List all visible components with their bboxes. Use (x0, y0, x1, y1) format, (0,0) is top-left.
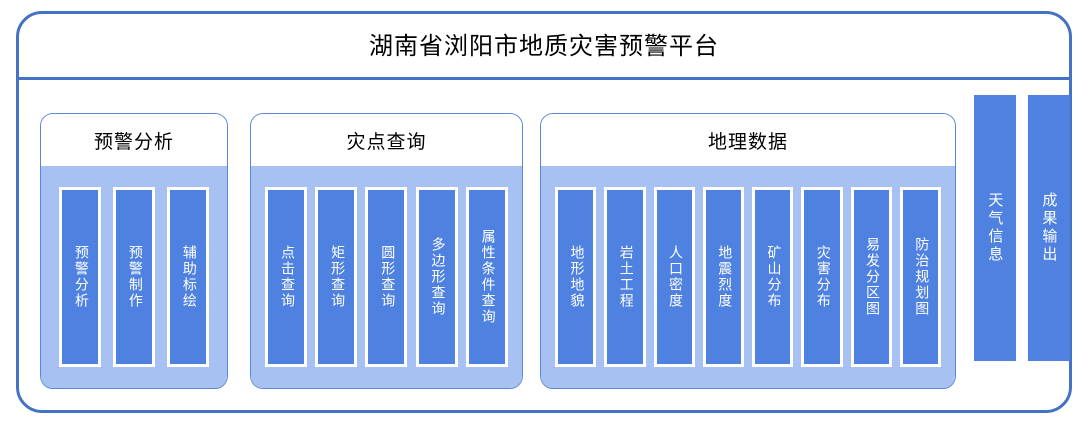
module-body-geographic-data: 地形地貌 岩土工程 人口密度 地震烈度 矿山分布 灾害分布 易发 (541, 166, 955, 388)
module-item-label: 地震烈度 (716, 245, 732, 309)
module-item-label: 易发分区图 (863, 237, 879, 317)
module-item-disaster-point-query-4[interactable]: 属性条件查询 (466, 187, 508, 367)
module-item-label: 矩形查询 (328, 245, 344, 309)
module-item-disaster-point-query-2[interactable]: 圆形查询 (365, 187, 407, 367)
module-item-geographic-data-7[interactable]: 防治规划图 (900, 187, 941, 367)
module-header-geographic-data: 地理数据 (541, 114, 955, 166)
module-item-geographic-data-0[interactable]: 地形地貌 (555, 187, 596, 367)
module-item-geographic-data-1[interactable]: 岩土工程 (604, 187, 645, 367)
modules-row: 预警分析 预警分析 预警制作 辅助标绘 灾点查询 点击查询 (19, 80, 1069, 410)
platform-container: 湖南省浏阳市地质灾害预警平台 预警分析 预警分析 预警制作 辅助标绘 (16, 11, 1072, 413)
module-item-label: 岩土工程 (617, 245, 633, 309)
module-header-disaster-point-query: 灾点查询 (251, 114, 522, 166)
module-item-warning-analysis-1[interactable]: 预警制作 (113, 187, 155, 367)
module-header-label: 地理数据 (708, 127, 788, 154)
module-item-label: 人口密度 (666, 245, 682, 309)
module-item-disaster-point-query-3[interactable]: 多边形查询 (416, 187, 458, 367)
module-body-disaster-point-query: 点击查询 矩形查询 圆形查询 多边形查询 属性条件查询 (251, 166, 522, 388)
standalone-bar-result-output[interactable]: 成果输出 (1028, 95, 1070, 361)
module-group-disaster-point-query[interactable]: 灾点查询 点击查询 矩形查询 圆形查询 多边形查询 属性条件查询 (250, 113, 523, 389)
module-item-label: 多边形查询 (429, 237, 445, 317)
module-item-label: 灾害分布 (814, 245, 830, 309)
module-item-label: 辅助标绘 (180, 245, 196, 309)
module-body-warning-analysis: 预警分析 预警制作 辅助标绘 (41, 166, 227, 388)
platform-titlebar: 湖南省浏阳市地质灾害预警平台 (19, 14, 1069, 80)
module-group-geographic-data[interactable]: 地理数据 地形地貌 岩土工程 人口密度 地震烈度 矿山分布 (540, 113, 956, 389)
page-title: 湖南省浏阳市地质灾害预警平台 (369, 34, 719, 58)
module-item-label: 防治规划图 (913, 237, 929, 317)
module-item-disaster-point-query-1[interactable]: 矩形查询 (315, 187, 357, 367)
module-item-label: 预警制作 (126, 245, 142, 309)
module-item-label: 点击查询 (278, 245, 294, 309)
module-item-geographic-data-3[interactable]: 地震烈度 (703, 187, 744, 367)
module-item-warning-analysis-2[interactable]: 辅助标绘 (167, 187, 209, 367)
module-item-label: 属性条件查询 (479, 229, 495, 325)
module-item-warning-analysis-0[interactable]: 预警分析 (59, 187, 101, 367)
module-item-geographic-data-4[interactable]: 矿山分布 (752, 187, 793, 367)
module-header-warning-analysis: 预警分析 (41, 114, 227, 166)
module-item-label: 地形地貌 (568, 245, 584, 309)
standalone-bar-weather-info[interactable]: 天气信息 (974, 95, 1016, 361)
standalone-bar-label: 天气信息 (987, 192, 1004, 264)
module-item-geographic-data-2[interactable]: 人口密度 (654, 187, 695, 367)
module-item-geographic-data-5[interactable]: 灾害分布 (801, 187, 842, 367)
module-item-label: 圆形查询 (379, 245, 395, 309)
module-item-geographic-data-6[interactable]: 易发分区图 (851, 187, 892, 367)
module-header-label: 预警分析 (94, 127, 174, 154)
module-group-warning-analysis[interactable]: 预警分析 预警分析 预警制作 辅助标绘 (40, 113, 228, 389)
module-header-label: 灾点查询 (346, 127, 426, 154)
module-item-label: 预警分析 (72, 245, 88, 309)
module-item-disaster-point-query-0[interactable]: 点击查询 (265, 187, 307, 367)
module-item-label: 矿山分布 (765, 245, 781, 309)
standalone-bar-label: 成果输出 (1041, 192, 1058, 264)
